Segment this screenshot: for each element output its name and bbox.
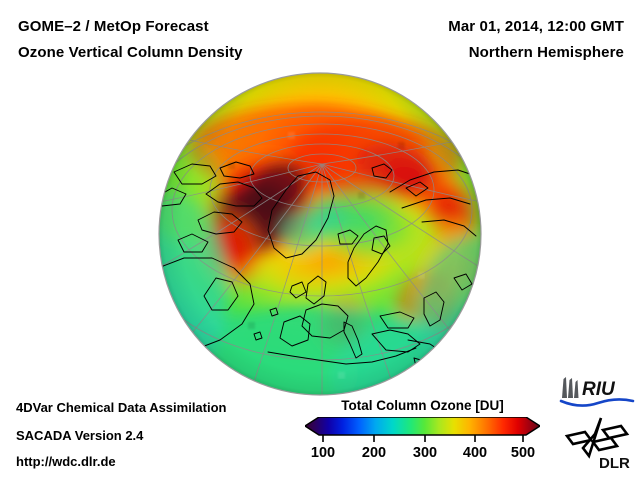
forecast-timestamp: Mar 01, 2014, 12:00 GMT [448,18,624,35]
dlr-logo: DLR [563,416,635,470]
page-title: GOME–2 / MetOp Forecast [18,18,209,35]
version-label: SACADA Version 2.4 [16,428,143,443]
dlr-wordmark: DLR [599,455,630,470]
riu-wave-icon [561,399,633,405]
colorbar-tick-500: 500 [511,445,535,461]
colorbar-tick-400: 400 [463,445,487,461]
colorbar-tick-300: 300 [413,445,437,461]
colorbar-ticks [323,435,523,442]
dlr-logo-icon: DLR [563,416,635,470]
riu-logo-icon: RIU [558,374,636,410]
website-link[interactable]: http://wdc.dlr.de [16,454,116,469]
method-label: 4DVar Chemical Data Assimilation [16,400,227,415]
riu-tower-icon [562,377,579,398]
colorbar-gradient [305,417,540,443]
ozone-globe-map [158,72,482,396]
colorbar-tick-100: 100 [311,445,335,461]
dlr-emblem-icon [567,418,627,456]
riu-wordmark: RIU [582,379,616,400]
orthographic-projection-svg [158,72,482,396]
colorbar-title: Total Column Ozone [DU] [305,398,540,413]
colorbar-tick-labels: 100 200 300 400 500 [305,445,540,469]
colorbar: Total Column Ozone [DU] [305,398,540,474]
page-subtitle: Ozone Vertical Column Density [18,44,243,61]
region-label: Northern Hemisphere [469,44,624,61]
colorbar-tick-200: 200 [362,445,386,461]
riu-logo: RIU [558,374,636,410]
